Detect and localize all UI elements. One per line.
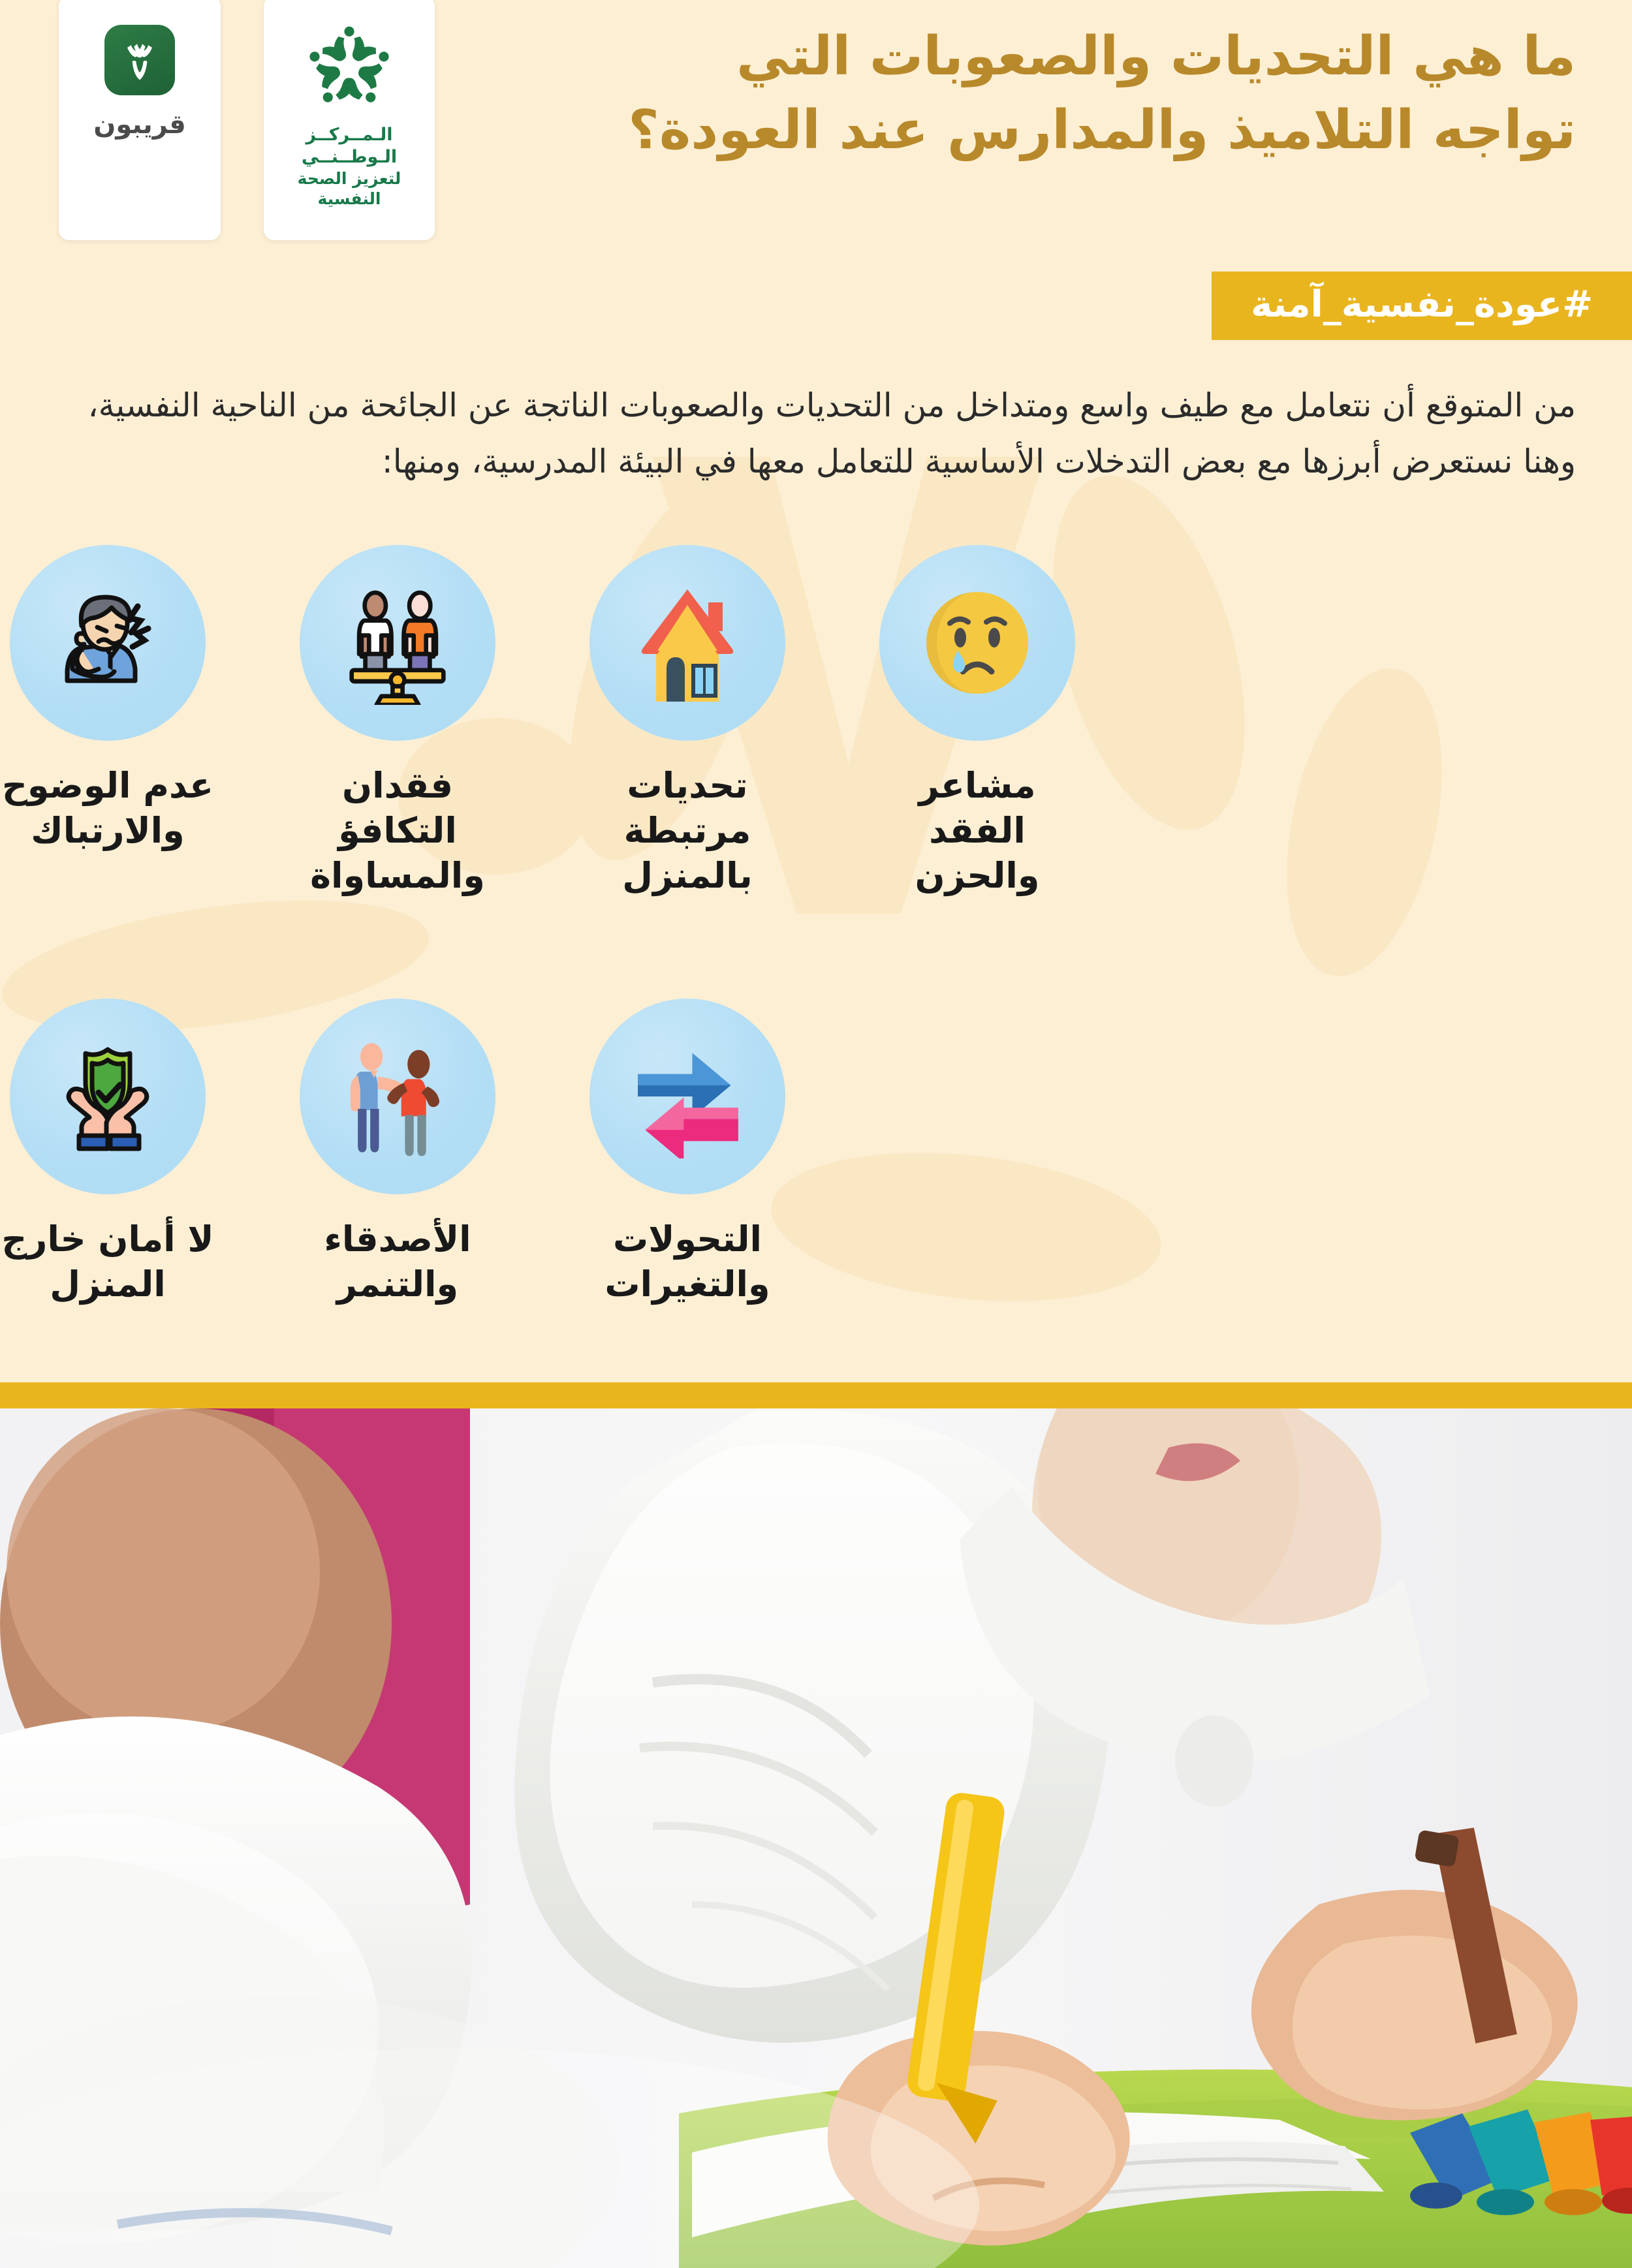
challenge-label: فقدان التكافؤ والمساواة	[290, 763, 505, 898]
challenge-label: الأصدقاء والتنمر	[290, 1217, 505, 1307]
headline-line-2: تواجه التلاميذ والمدارس عند العودة؟	[466, 93, 1576, 167]
challenge-label: مشاعر الفقد والحزن	[870, 763, 1085, 898]
challenge-label: لا أمان خارج المنزل	[0, 1217, 215, 1307]
logo-line-2: لتعزيز الصحة النفسية	[264, 168, 435, 210]
challenge-item: عدم الوضوح والارتباك	[0, 545, 215, 898]
national-center-starburst-logo	[300, 18, 399, 117]
hashtag-badge: #عودة_نفسية_آمنة	[1212, 272, 1632, 340]
national-center-logo-card: الـمــركــز الـوطــنــي لتعزيز الصحة الن…	[264, 0, 435, 240]
confused-person-icon	[10, 545, 206, 741]
national-center-logo-text: الـمــركــز الـوطــنــي لتعزيز الصحة الن…	[264, 124, 435, 209]
challenges-row-1: عدم الوضوح والارتباك	[0, 545, 1632, 898]
two-way-arrows-change-icon	[589, 999, 785, 1194]
house-home-icon	[589, 545, 785, 741]
classroom-photo	[0, 1408, 1632, 2268]
bullying-two-people-icon	[300, 999, 495, 1194]
top-section: الـمــركــز الـوطــنــي لتعزيز الصحة الن…	[0, 0, 1632, 1384]
balance-scale-equality-icon	[300, 545, 495, 741]
qareboon-app-name: قريبون	[93, 110, 186, 140]
challenge-label: تحديات مرتبطة بالمنزل	[580, 763, 795, 898]
crying-sad-face-icon	[879, 545, 1075, 741]
qareboon-app-tile-logo	[104, 25, 175, 95]
page-title: ما هي التحديات والصعوبات التي تواجه التل…	[466, 20, 1576, 167]
logo-strip: الـمــركــز الـوطــنــي لتعزيز الصحة الن…	[59, 0, 435, 240]
challenge-label: عدم الوضوح والارتباك	[0, 763, 215, 853]
infographic-page: الـمــركــز الـوطــنــي لتعزيز الصحة الن…	[0, 0, 1632, 2268]
challenge-item: لا أمان خارج المنزل	[0, 999, 215, 1307]
challenge-item: مشاعر الفقد والحزن	[870, 545, 1085, 898]
headline-line-1: ما هي التحديات والصعوبات التي	[466, 20, 1576, 93]
challenge-item: التحولات والتغيرات	[580, 999, 795, 1307]
challenge-label: التحولات والتغيرات	[580, 1217, 795, 1307]
shield-in-hands-safety-icon	[10, 999, 206, 1194]
challenge-item: تحديات مرتبطة بالمنزل	[580, 545, 795, 898]
challenges-row-2: لا أمان خارج المنزل	[0, 999, 1632, 1307]
qareboon-logo-card: قريبون	[59, 0, 221, 240]
intro-paragraph: من المتوقع أن نتعامل مع طيف واسع ومتداخل…	[55, 377, 1576, 489]
challenge-item: فقدان التكافؤ والمساواة	[290, 545, 505, 898]
challenge-item: الأصدقاء والتنمر	[290, 999, 505, 1307]
gold-divider	[0, 1382, 1632, 1408]
logo-line-1: الـمــركــز الـوطــنــي	[264, 124, 435, 168]
